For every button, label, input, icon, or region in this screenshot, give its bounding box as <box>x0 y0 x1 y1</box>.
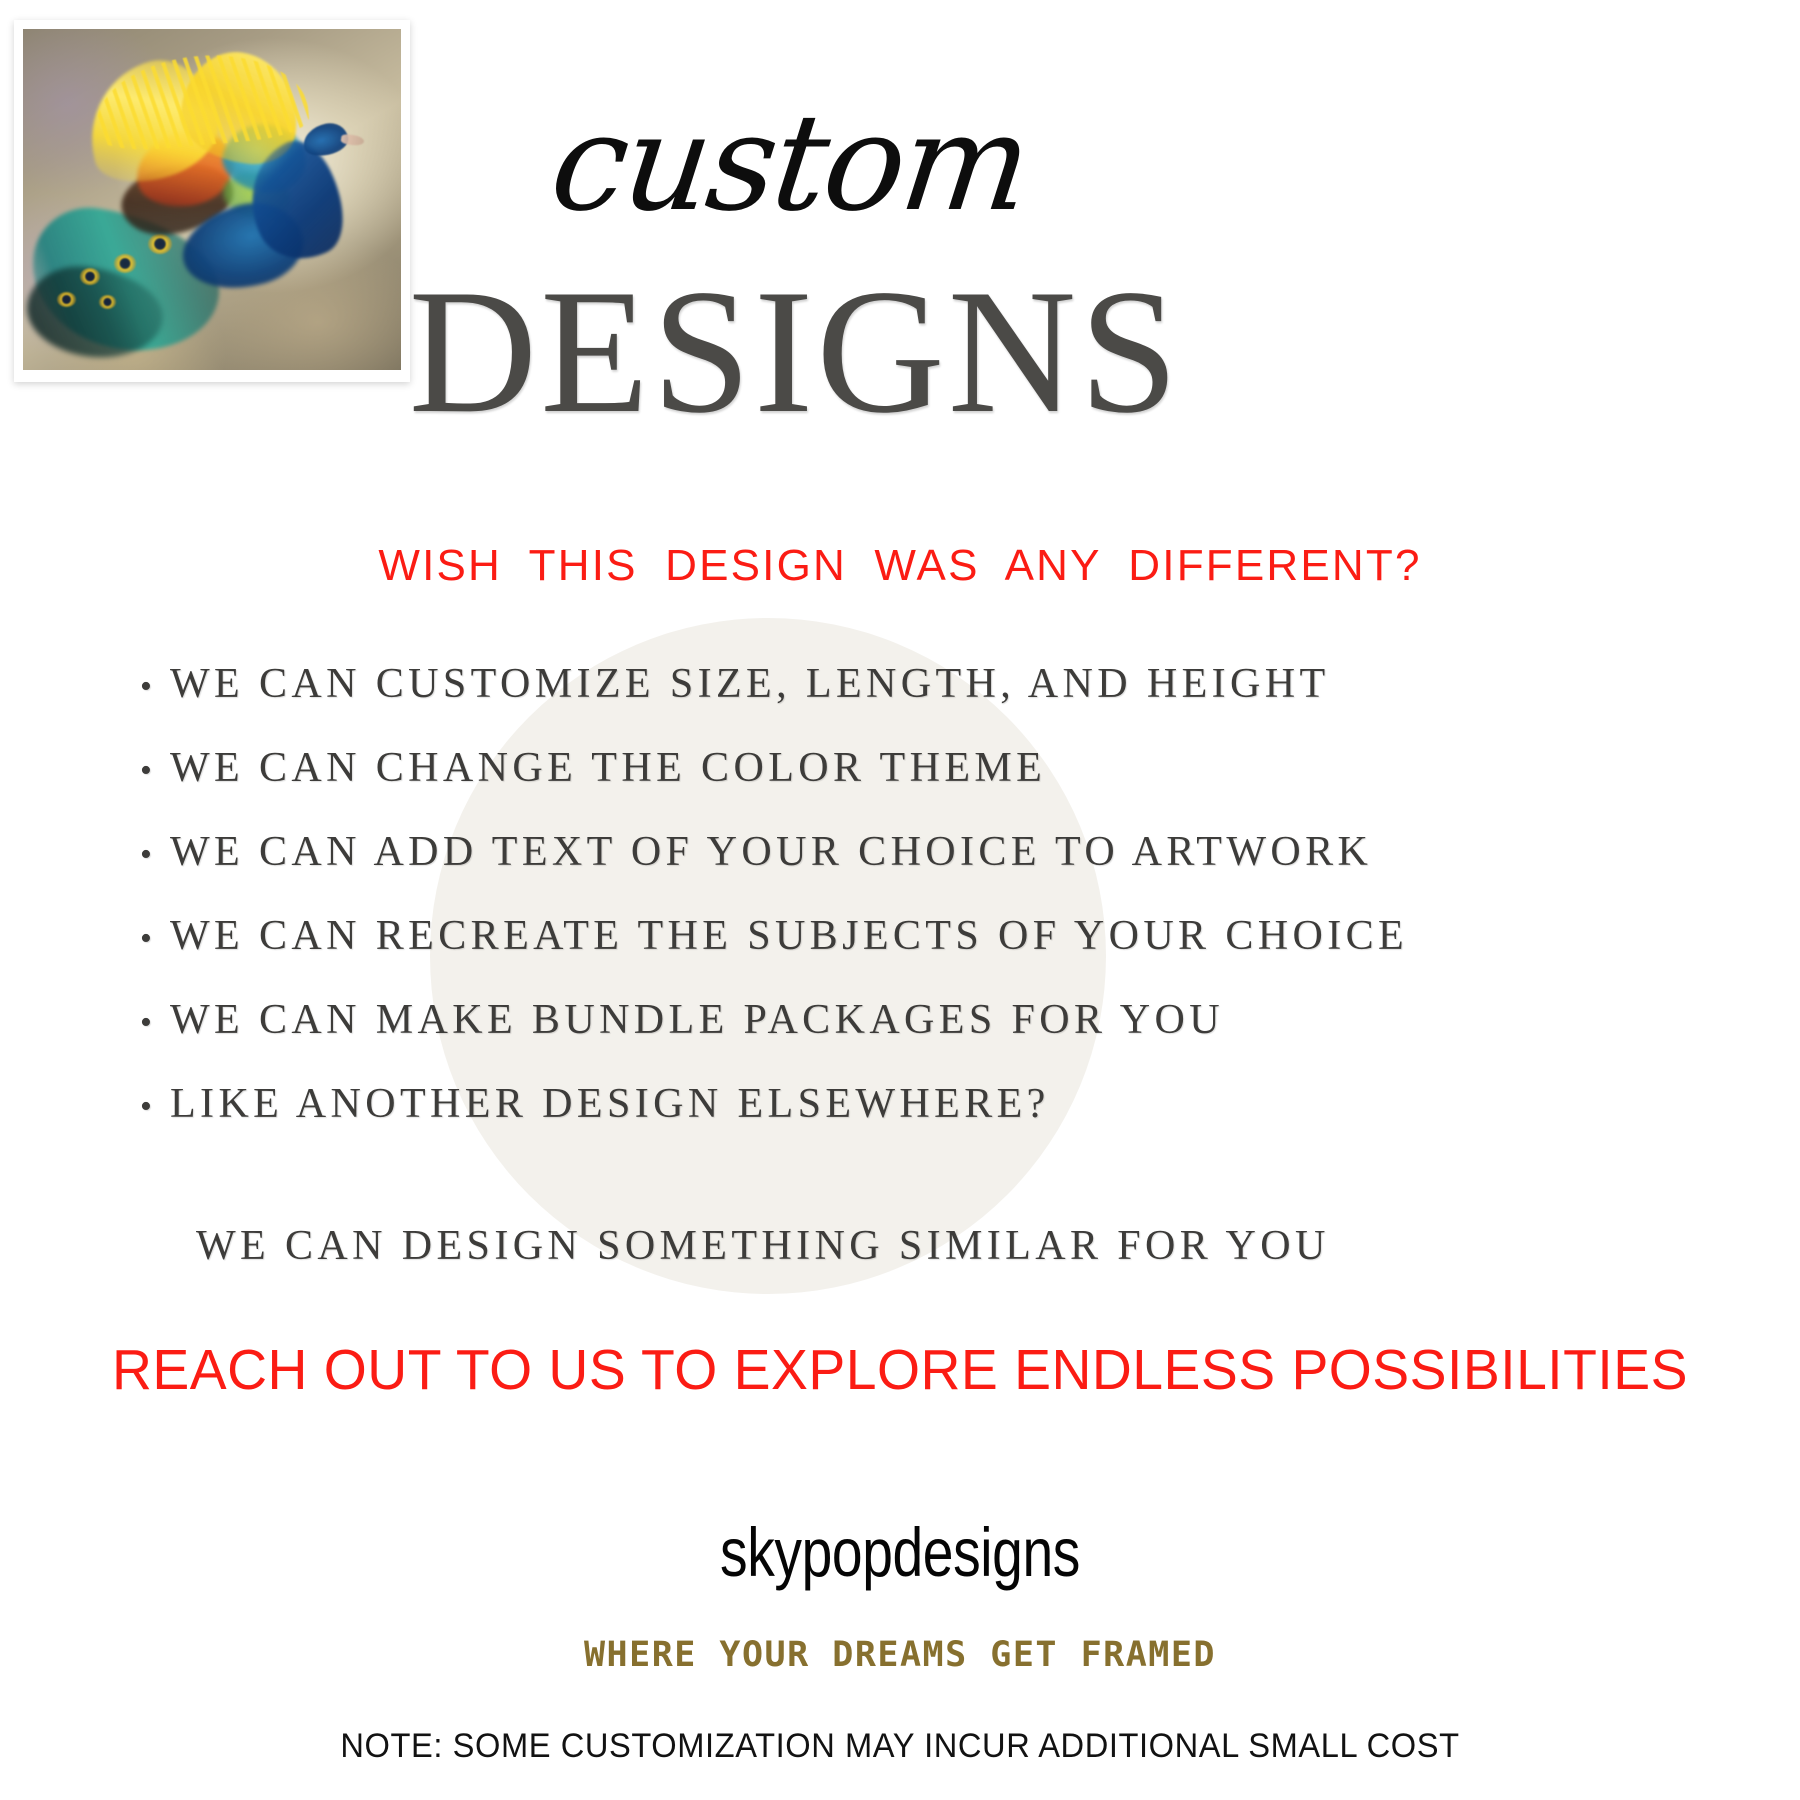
brand-tagline: WHERE YOUR DREAMS GET FRAMED <box>0 1634 1800 1676</box>
page-title-designs: DESIGNS <box>370 262 1220 440</box>
feather-eye-spot-icon <box>80 268 101 285</box>
bullet-icon: • <box>140 1090 170 1124</box>
promo-poster: custom DESIGNS WISH THIS DESIGN WAS ANY … <box>0 0 1800 1800</box>
feature-list: • WE CAN CUSTOMIZE SIZE, LENGTH, AND HEI… <box>140 660 1700 1164</box>
list-item: • WE CAN CHANGE THE COLOR THEME <box>140 744 1700 828</box>
feather-eye-spot-icon <box>99 295 116 309</box>
call-to-action-text: REACH OUT TO US TO EXPLORE ENDLESS POSSI… <box>27 1336 1773 1404</box>
bullet-icon: • <box>140 838 170 872</box>
peacock-artwork-thumbnail[interactable] <box>14 20 410 382</box>
list-item: • LIKE ANOTHER DESIGN ELSEWHERE? <box>140 1080 1700 1164</box>
list-item-label: LIKE ANOTHER DESIGN ELSEWHERE? <box>170 1080 1050 1128</box>
subtitle-question: WISH THIS DESIGN WAS ANY DIFFERENT? <box>0 540 1800 593</box>
list-item-label: WE CAN MAKE BUNDLE PACKAGES FOR YOU <box>170 996 1224 1044</box>
bullet-icon: • <box>140 922 170 956</box>
list-item: • WE CAN MAKE BUNDLE PACKAGES FOR YOU <box>140 996 1700 1080</box>
list-item-continuation-label: WE CAN DESIGN SOMETHING SIMILAR FOR YOU <box>196 1222 1330 1270</box>
list-item-label: WE CAN RECREATE THE SUBJECTS OF YOUR CHO… <box>170 912 1408 960</box>
list-item-label: WE CAN CHANGE THE COLOR THEME <box>170 744 1046 792</box>
feather-eye-spot-icon <box>114 254 137 273</box>
list-item-label: WE CAN CUSTOMIZE SIZE, LENGTH, AND HEIGH… <box>170 660 1330 708</box>
footer-note: NOTE: SOME CUSTOMIZATION MAY INCUR ADDIT… <box>36 1726 1764 1767</box>
peacock-painting-image <box>23 29 401 370</box>
script-heading-custom: custom <box>392 96 1188 230</box>
bullet-icon: • <box>140 670 170 704</box>
feather-eye-spot-icon <box>57 292 76 307</box>
list-item-label: WE CAN ADD TEXT OF YOUR CHOICE TO ARTWOR… <box>170 828 1372 876</box>
bullet-icon: • <box>140 1006 170 1040</box>
list-item: • WE CAN RECREATE THE SUBJECTS OF YOUR C… <box>140 912 1700 996</box>
list-item: • WE CAN CUSTOMIZE SIZE, LENGTH, AND HEI… <box>140 660 1700 744</box>
bullet-icon: • <box>140 754 170 788</box>
list-item: • WE CAN ADD TEXT OF YOUR CHOICE TO ARTW… <box>140 828 1700 912</box>
brand-logo-text: skypopdesigns <box>180 1512 1620 1595</box>
